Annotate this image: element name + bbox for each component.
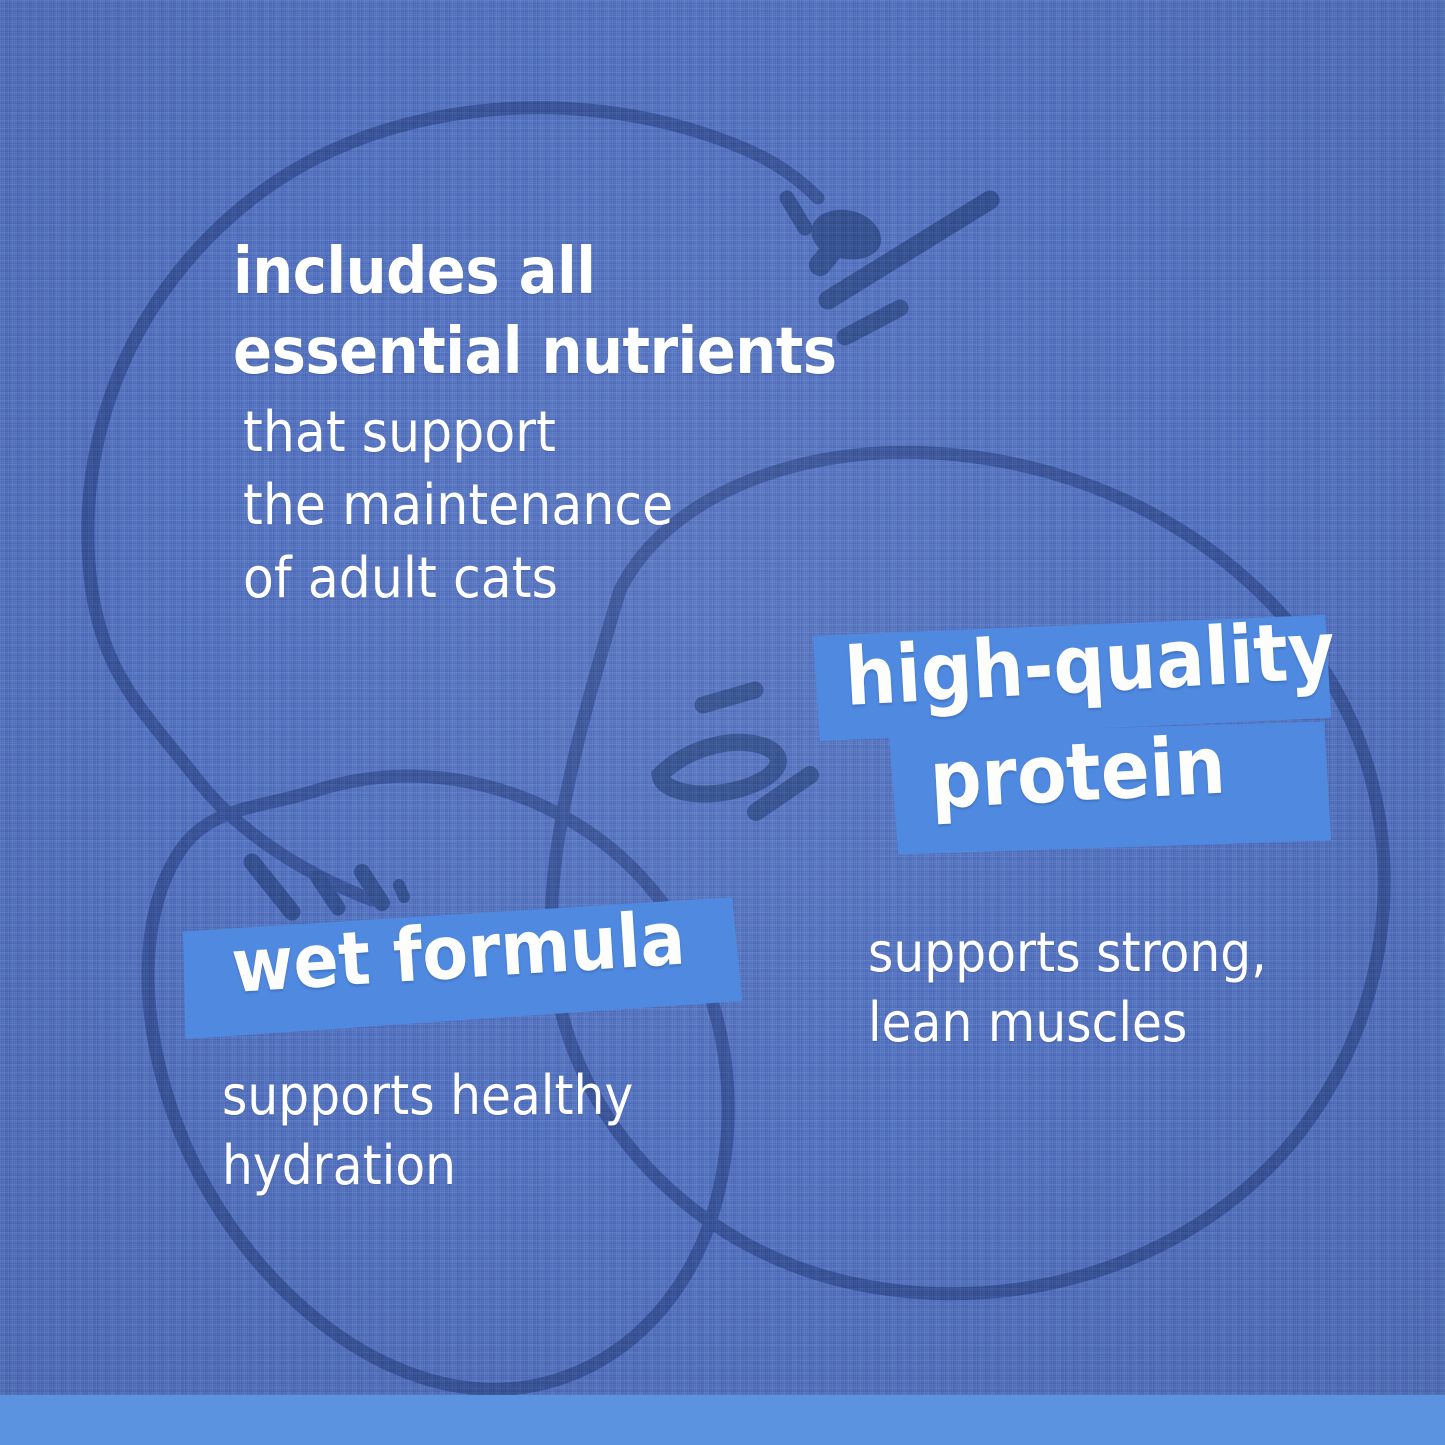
wet-formula-body-line1: supports healthy (222, 1068, 633, 1123)
protein-highlight-line2: protein (928, 725, 1227, 822)
loop-swoosh (660, 742, 778, 794)
nutrients-body-line2: the maintenance (243, 477, 673, 534)
protein-body-line1: supports strong, (868, 925, 1267, 980)
nutrients-headline-line1: includes all (233, 240, 595, 305)
nutrients-headline-line2: essential nutrients (233, 320, 837, 385)
feature-graphic-canvas: includes all essential nutrients that su… (0, 0, 1445, 1445)
protein-body-line2: lean muscles (868, 995, 1187, 1050)
decorative-marks-layer (0, 0, 1445, 1445)
dash-cluster-above-wet-formula (252, 862, 404, 912)
nutrients-body-line3: of adult cats (243, 550, 558, 607)
bottom-color-strip (0, 1395, 1445, 1445)
swoosh-cluster-center (660, 690, 810, 812)
nutrients-body-line1: that support (243, 404, 556, 461)
wet-formula-body-line2: hydration (222, 1138, 456, 1193)
